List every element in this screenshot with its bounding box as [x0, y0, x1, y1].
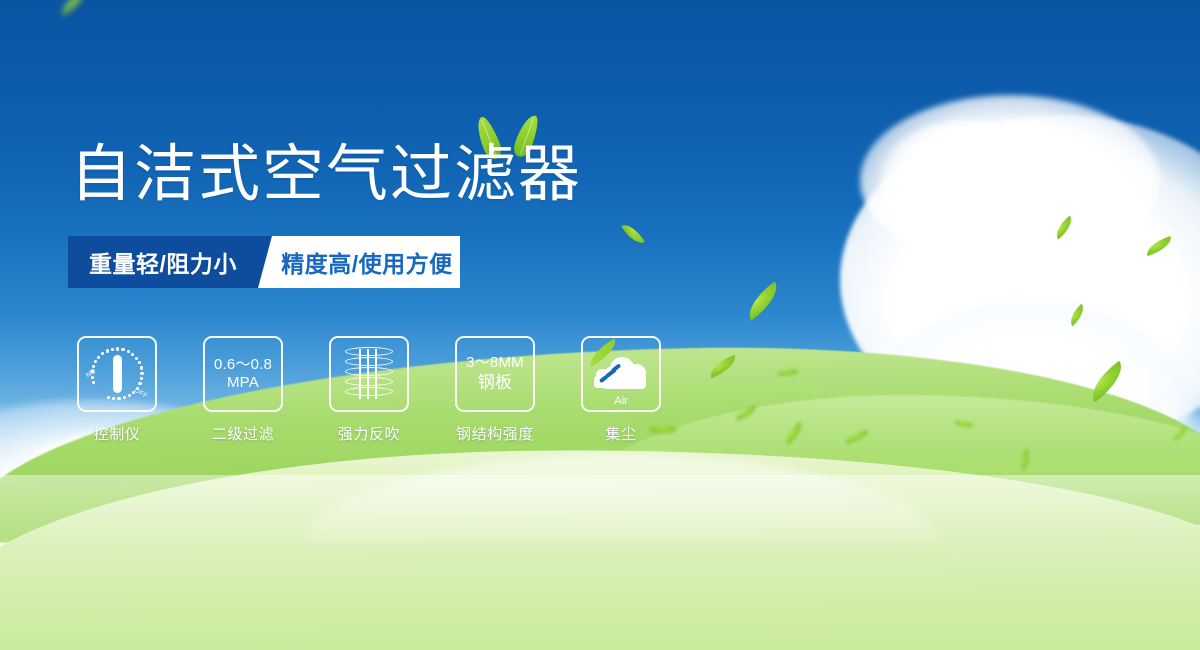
gauge-dial-icon: NO OFF: [87, 346, 147, 402]
gauge-tick-dot: [138, 361, 141, 364]
feature-label-secondary-filtration: 二级过滤: [203, 423, 283, 444]
gauge-tick-dot: [94, 360, 97, 363]
feature-item-steel-strength[interactable]: 3～8MM 钢板 钢结构强度: [455, 336, 535, 444]
gauge-tick-dot: [101, 352, 104, 355]
feature-box-secondary-filtration[interactable]: 0.6～0.8 MPA: [203, 336, 283, 412]
pressure-text-icon: 0.6～0.8 MPA: [214, 356, 272, 393]
feature-icon-row: NO OFF 控制仪 0.6～0.8 MPA 二级过滤: [77, 336, 661, 444]
feature-label-strong-backblow: 强力反吹: [329, 423, 409, 444]
floating-leaf-icon: [56, 0, 89, 16]
floating-leaf-icon: [1144, 236, 1174, 256]
subtitle-right-text: 精度高/使用方便: [258, 236, 460, 288]
gauge-tick-dot: [135, 357, 138, 360]
subtitle-banner: 重量轻/阻力小 精度高/使用方便: [68, 236, 460, 288]
cloud-right-puff-a: [880, 120, 1050, 250]
feature-box-steel-strength[interactable]: 3～8MM 钢板: [455, 336, 535, 412]
gauge-tick-dot: [97, 356, 100, 359]
pressure-unit: MPA: [214, 374, 272, 392]
feature-label-dust-collection: 集尘: [581, 423, 661, 444]
feature-label-controller: 控制仪: [77, 423, 157, 444]
gauge-needle-icon: [113, 355, 122, 393]
gauge-tick-dot: [140, 372, 143, 375]
gauge-tick-dot: [117, 397, 120, 400]
page-title: 自洁式空气过滤器: [70, 142, 582, 208]
steel-material: 钢板: [466, 373, 524, 394]
subtitle-left-text: 重量轻/阻力小: [68, 236, 258, 288]
gauge-tick-dot: [106, 349, 109, 352]
floating-leaf-icon: [621, 220, 645, 248]
floating-leaf-icon: [1051, 216, 1076, 240]
gauge-tick-dot: [116, 347, 119, 350]
feature-label-steel-strength: 钢结构强度: [455, 423, 535, 444]
feature-item-secondary-filtration[interactable]: 0.6～0.8 MPA 二级过滤: [203, 336, 283, 444]
product-hero-banner: 自洁式空气过滤器 重量轻/阻力小 精度高/使用方便 NO OFF 控制仪 0.6…: [0, 0, 1200, 650]
floating-leaf-icon: [741, 281, 786, 320]
gauge-tick-dot: [128, 394, 131, 397]
feature-item-dust-collection[interactable]: Air 集尘: [581, 336, 661, 444]
air-cloud-icon: Air: [592, 353, 650, 395]
cloud-right-top: [860, 95, 1160, 265]
gauge-tick-dot: [121, 348, 124, 351]
steel-thickness: 3～8MM: [466, 354, 524, 372]
feature-box-dust-collection[interactable]: Air: [581, 336, 661, 412]
air-label: Air: [592, 395, 650, 407]
gauge-tick-dot: [112, 397, 115, 400]
gauge-tick-dot: [138, 382, 141, 385]
filter-coil-icon: [345, 346, 393, 402]
feature-box-controller[interactable]: NO OFF: [77, 336, 157, 412]
gauge-tick-dot: [92, 381, 95, 384]
feature-box-strong-backblow[interactable]: [329, 336, 409, 412]
gauge-tick-dot: [140, 366, 143, 369]
gauge-tick-dot: [127, 350, 130, 353]
gauge-tick-dot: [123, 396, 126, 399]
feature-item-controller[interactable]: NO OFF 控制仪: [77, 336, 157, 444]
floating-leaf-icon: [1066, 304, 1089, 326]
gauge-tick-dot: [140, 377, 143, 380]
steel-plate-text-icon: 3～8MM 钢板: [466, 354, 524, 393]
pressure-value: 0.6～0.8: [214, 356, 272, 374]
feature-item-strong-backblow[interactable]: 强力反吹: [329, 336, 409, 444]
gauge-tick-dot: [111, 348, 114, 351]
gauge-tick-dot: [131, 353, 134, 356]
gauge-tick-dot: [107, 396, 110, 399]
